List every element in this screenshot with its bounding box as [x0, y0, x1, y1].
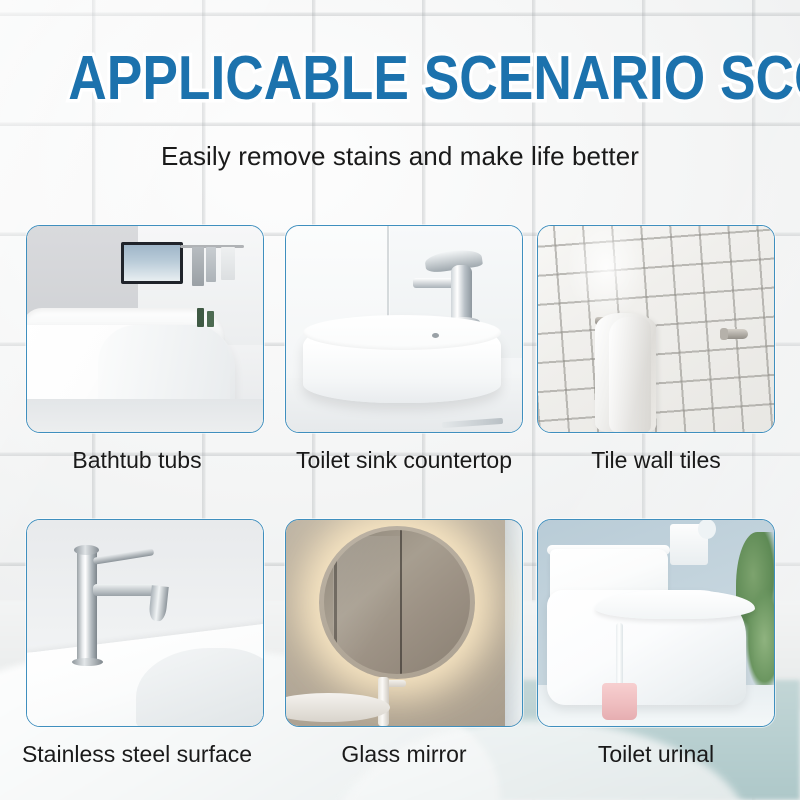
mirror-reflected-seam	[400, 530, 402, 674]
sink-basin-rim	[303, 315, 501, 350]
scenario-card-tile[interactable]: Tile wall tiles	[526, 225, 776, 474]
tile-wall-illustration	[538, 226, 774, 432]
hanging-towel-1	[192, 247, 204, 286]
vessel-sink-photo	[285, 225, 523, 433]
backlit-mirror-photo	[285, 519, 523, 727]
scenario-card-sink[interactable]: Toilet sink countertop	[276, 225, 526, 474]
page-title: APPLICABLE SCENARIO SCOPE	[68, 48, 800, 110]
hanging-towel-3	[221, 247, 235, 280]
toilet-illustration	[538, 520, 774, 726]
scenario-scope-poster: APPLICABLE SCENARIO SCOPE Easily remove …	[0, 0, 800, 800]
scenario-card-steel[interactable]: Stainless steel surface	[26, 519, 276, 768]
scenario-grid: Bathtub tubs	[26, 225, 776, 768]
towel-fold	[609, 317, 651, 432]
toilet-seat	[595, 590, 755, 619]
headline-container: APPLICABLE SCENARIO SCOPE	[0, 48, 800, 110]
vessel-sink-illustration	[286, 226, 522, 432]
towel-hook-right	[724, 329, 748, 339]
mirror-reflected-door	[334, 530, 337, 674]
hanging-towel-2	[206, 247, 215, 282]
mirror-reflection	[333, 536, 400, 669]
faucet-cap	[74, 545, 99, 555]
faucet-column	[77, 549, 97, 664]
scenario-caption: Toilet urinal	[537, 741, 775, 768]
wall-tv-icon	[121, 242, 182, 283]
scenario-card-bathtub[interactable]: Bathtub tubs	[26, 225, 276, 474]
faucet-spout	[93, 584, 159, 596]
scenario-caption: Toilet sink countertop	[285, 447, 523, 474]
toilet-paper-holder	[670, 524, 708, 565]
page-subtitle: Easily remove stains and make life bette…	[0, 141, 800, 172]
scenario-card-mirror[interactable]: Glass mirror	[276, 519, 526, 768]
mirror-basin	[285, 693, 390, 722]
tile-wall-photo	[537, 225, 775, 433]
toilet-brush-holder	[602, 683, 637, 720]
bathtub-photo	[26, 225, 264, 433]
mirror-illustration	[286, 520, 522, 726]
bathtub-floor	[27, 399, 263, 432]
scenario-card-toilet[interactable]: Toilet urinal	[526, 519, 776, 768]
faucet-base-ring	[72, 658, 103, 666]
scenario-caption: Bathtub tubs	[18, 447, 256, 474]
round-mirror	[324, 530, 470, 674]
steel-faucet-illustration	[27, 520, 263, 726]
scenario-caption: Stainless steel surface	[18, 741, 256, 768]
scenario-row-2: Stainless steel surface	[26, 519, 776, 768]
toilet-photo	[537, 519, 775, 727]
mirror-wall-edge	[505, 520, 522, 726]
scenario-caption: Glass mirror	[285, 741, 523, 768]
toilet-brush-handle	[616, 623, 623, 689]
bathtub-illustration	[27, 226, 263, 432]
tile-highlight	[566, 226, 646, 321]
steel-faucet-photo	[26, 519, 264, 727]
scenario-caption: Tile wall tiles	[537, 447, 775, 474]
scenario-row-1: Bathtub tubs	[26, 225, 776, 474]
shelf-bottles	[197, 308, 216, 327]
